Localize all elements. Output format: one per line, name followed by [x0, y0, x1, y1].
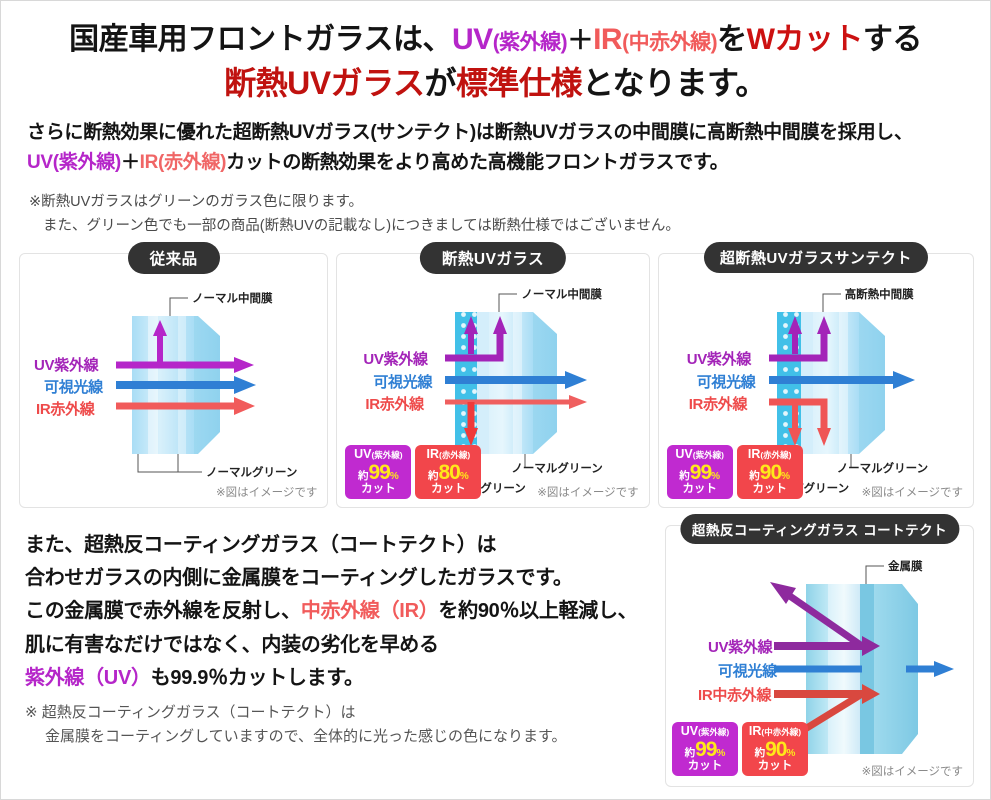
headline-line-1: 国産車用フロントガラスは、UV(紫外線)＋IR(中赤外線)をWカットする — [1, 21, 990, 59]
page-title: 国産車用フロントガラスは、UV(紫外線)＋IR(中赤外線)をWカットする 断熱U… — [1, 1, 990, 104]
ray-label-visible-heat-uv: 可視光線 — [373, 371, 432, 392]
infographic-page: 国産車用フロントガラスは、UV(紫外線)＋IR(中赤外線)をWカットする 断熱U… — [0, 0, 991, 800]
badge-ir-cut-coattect: カット — [742, 761, 808, 773]
badge-ir-approx-suntect: 約 — [749, 470, 760, 482]
coattect-uv-highlight: 紫外線（UV） — [25, 667, 151, 689]
badge-ir-abbr-heat-uv: IR — [427, 447, 440, 461]
badge-ir-abbr-coattect: IR — [749, 724, 762, 738]
image-note-heat-uv: ※図はイメージです — [537, 484, 638, 500]
ray-label-ir-coattect: IR中赤外線 — [698, 684, 771, 705]
badge-uv-value-suntect: 約99% — [667, 462, 733, 483]
badges-heat-uv: UV(紫外線) 約99% カット IR(赤外線) 約80% カット — [345, 445, 481, 499]
badge-ir-value-heat-uv: 約80% — [415, 462, 481, 483]
badge-uv-paren-coattect: (紫外線) — [698, 727, 729, 737]
lead-line-1: さらに断熱効果に優れた超断熱UVガラス(サンテクト)は断熱UVガラスの中間膜に高… — [27, 118, 964, 147]
image-note-coattect: ※図はイメージです — [862, 763, 963, 779]
coattect-line-5b: も99.9％カットします。 — [151, 667, 364, 689]
headline-seg-uv: UV — [452, 23, 493, 56]
panel-conventional: 従来品 — [19, 253, 328, 508]
badge-uv-abbr-suntect: UV — [675, 447, 692, 461]
badge-uv-cut-heat-uv: カット — [345, 484, 411, 496]
headline-seg-wcut: Wカット — [747, 23, 863, 56]
badges-suntect: UV(紫外線) 約99% カット IR(赤外線) 約90% カット — [667, 445, 803, 499]
badge-ir-title-heat-uv: IR(赤外線) — [415, 448, 481, 461]
ray-label-uv-coattect: UV紫外線 — [708, 636, 772, 657]
ray-label-ir-suntect: IR赤外線 — [689, 393, 748, 414]
badge-ir-value-suntect: 約90% — [737, 462, 803, 483]
badge-uv-value-heat-uv: 約99% — [345, 462, 411, 483]
callout-metal-film-coattect: 金属膜 — [888, 558, 923, 574]
coattect-footnote-line-2: 金属膜をコーティングしていますので、全体的に光った感じの色になります。 — [25, 725, 645, 749]
badge-uv-number-heat-uv: 99 — [368, 461, 389, 484]
badge-ir-percent-coattect: % — [786, 748, 795, 759]
ray-label-uv-conventional: UV紫外線 — [34, 354, 98, 375]
panel-heat-uv: 断熱UVガラス — [336, 253, 649, 508]
image-note-suntect: ※図はイメージです — [862, 484, 963, 500]
panel-body-coattect: UV紫外線 可視光線 IR中赤外線 金属膜 UV(紫外線) 約99% カット I… — [666, 526, 973, 786]
badge-uv-percent-coattect: % — [716, 748, 725, 759]
coattect-ir-highlight: 中赤外線（IR） — [301, 600, 439, 622]
green-glass-note: ※断熱UVガラスはグリーンのガラス色に限ります。 また、グリーン色でも一部の商品… — [29, 191, 962, 238]
badge-uv-suntect: UV(紫外線) 約99% カット — [667, 445, 733, 499]
note-line-1: ※断熱UVガラスはグリーンのガラス色に限ります。 — [29, 194, 363, 210]
coattect-line-5: 紫外線（UV）も99.9％カットします。 — [25, 662, 645, 695]
ray-label-uv-heat-uv: UV紫外線 — [363, 348, 427, 369]
badge-ir-cut-suntect: カット — [737, 484, 803, 496]
panel-title-heat-uv: 断熱UVガラス — [420, 242, 566, 274]
coattect-line-1: また、超熱反コーティングガラス（コートテクト）は — [25, 529, 645, 562]
badge-uv-title-coattect: UV(紫外線) — [672, 725, 738, 738]
badge-ir-suntect: IR(赤外線) 約90% カット — [737, 445, 803, 499]
headline-seg-tail: となります。 — [582, 65, 767, 101]
coattect-footnote-line-1: ※ 超熱反コーティングガラス（コートテクト）は — [25, 704, 356, 721]
ray-label-visible-conventional: 可視光線 — [44, 376, 103, 397]
badge-uv-percent-suntect: % — [711, 471, 720, 482]
headline-seg-suru: する — [863, 23, 922, 56]
panel-body-suntect: UV紫外線 可視光線 IR赤外線 高断熱中間膜 ノーマルグリーン 断熱UVグリー… — [659, 254, 973, 507]
coattect-line-3c: を約90％以上軽減し、 — [438, 600, 637, 622]
badge-ir-number-heat-uv: 80 — [438, 461, 459, 484]
lead-plus: ＋ — [121, 152, 140, 173]
badge-ir-number-suntect: 90 — [760, 461, 781, 484]
badge-ir-abbr-suntect: IR — [748, 447, 761, 461]
badge-uv-paren-suntect: (紫外線) — [693, 450, 724, 460]
badge-uv-number-coattect: 99 — [695, 738, 716, 761]
lead-ir-label: IR(赤外線) — [140, 152, 227, 173]
coattect-line-4: 肌に有害なだけではなく、内装の劣化を早める — [25, 629, 645, 662]
badge-ir-coattect: IR(中赤外線) 約90% カット — [742, 722, 808, 776]
badge-ir-title-coattect: IR(中赤外線) — [742, 725, 808, 738]
callout-normal-green-heat-uv: ノーマルグリーン — [511, 460, 602, 476]
badge-uv-paren-heat-uv: (紫外線) — [371, 450, 402, 460]
badge-uv-title-suntect: UV(紫外線) — [667, 448, 733, 461]
panel-body-conventional: UV紫外線 可視光線 IR赤外線 ノーマル中間膜 ノーマルグリーン ※図はイメー… — [20, 254, 327, 507]
badge-ir-approx-coattect: 約 — [755, 747, 766, 759]
badge-uv-abbr-heat-uv: UV — [354, 447, 371, 461]
headline-seg-ir-paren: (中赤外線) — [622, 31, 717, 54]
lead-paragraph: さらに断熱効果に優れた超断熱UVガラス(サンテクト)は断熱UVガラスの中間膜に高… — [27, 118, 964, 177]
badge-ir-paren-coattect: (中赤外線) — [761, 727, 801, 737]
badge-uv-number-suntect: 99 — [690, 461, 711, 484]
panel-body-heat-uv: UV紫外線 可視光線 IR赤外線 ノーマル中間膜 ノーマルグリーン 断熱UVグリ… — [337, 254, 648, 507]
callout-interlayer-suntect: 高断熱中間膜 — [845, 286, 914, 302]
headline-seg-product: 断熱UVガラス — [224, 65, 424, 101]
coattect-line-3a: この金属膜で赤外線を反射し、 — [25, 600, 301, 622]
lead-line-2: UV(紫外線)＋IR(赤外線)カットの断熱効果をより高めた高機能フロントガラスで… — [27, 148, 964, 177]
headline-seg-ga: が — [424, 65, 456, 101]
badge-uv-approx-heat-uv: 約 — [358, 470, 369, 482]
badge-uv-abbr-coattect: UV — [681, 724, 698, 738]
badge-ir-number-coattect: 90 — [765, 738, 786, 761]
headline-line-2: 断熱UVガラスが標準仕様となります。 — [1, 63, 990, 104]
badges-coattect: UV(紫外線) 約99% カット IR(中赤外線) 約90% カット — [672, 722, 808, 776]
badge-ir-percent-heat-uv: % — [460, 471, 469, 482]
note-line-2: また、グリーン色でも一部の商品(断熱UVの記載なし)につきましては断熱仕様ではご… — [29, 215, 962, 238]
badge-uv-heat-uv: UV(紫外線) 約99% カット — [345, 445, 411, 499]
panel-title-coattect: 超熱反コーティングガラス コートテクト — [680, 514, 959, 544]
panel-coattect: 超熱反コーティングガラス コートテクト — [665, 525, 974, 787]
comparison-panels: 従来品 — [19, 253, 974, 508]
coattect-line-3: この金属膜で赤外線を反射し、中赤外線（IR）を約90％以上軽減し、 — [25, 595, 645, 628]
panel-title-conventional: 従来品 — [128, 242, 220, 274]
callout-interlayer-heat-uv: ノーマル中間膜 — [521, 286, 602, 302]
lead-rest: カットの断熱効果をより高めた高機能フロントガラスです。 — [226, 152, 728, 173]
ray-label-ir-conventional: IR赤外線 — [36, 398, 95, 419]
badge-ir-cut-heat-uv: カット — [415, 484, 481, 496]
badge-ir-paren-suntect: (赤外線) — [760, 450, 791, 460]
badge-uv-title-heat-uv: UV(紫外線) — [345, 448, 411, 461]
coattect-line-2: 合わせガラスの内側に金属膜をコーティングしたガラスです。 — [25, 562, 645, 595]
headline-seg-wo: を — [717, 23, 747, 56]
badge-ir-heat-uv: IR(赤外線) 約80% カット — [415, 445, 481, 499]
headline-seg-ir: IR — [593, 23, 622, 56]
lead-uv-label: UV(紫外線) — [27, 152, 121, 173]
badge-uv-approx-coattect: 約 — [685, 747, 696, 759]
badge-uv-cut-coattect: カット — [672, 761, 738, 773]
badge-ir-paren-heat-uv: (赤外線) — [439, 450, 470, 460]
callout-interlayer-conventional: ノーマル中間膜 — [192, 290, 273, 306]
headline-seg-plus: ＋ — [567, 25, 593, 55]
ray-label-visible-suntect: 可視光線 — [697, 371, 756, 392]
headline-seg-standard: 標準仕様 — [456, 65, 582, 101]
badge-uv-cut-suntect: カット — [667, 484, 733, 496]
callout-green-conventional: ノーマルグリーン — [206, 464, 297, 480]
badge-uv-approx-suntect: 約 — [679, 470, 690, 482]
badge-ir-title-suntect: IR(赤外線) — [737, 448, 803, 461]
headline-seg-intro: 国産車用フロントガラスは、 — [69, 23, 452, 56]
badge-ir-approx-heat-uv: 約 — [428, 470, 439, 482]
ray-label-uv-suntect: UV紫外線 — [687, 348, 751, 369]
badge-ir-value-coattect: 約90% — [742, 739, 808, 760]
badge-uv-coattect: UV(紫外線) 約99% カット — [672, 722, 738, 776]
image-note-conventional: ※図はイメージです — [216, 484, 317, 500]
panel-title-suntect: 超断熱UVガラスサンテクト — [704, 242, 928, 273]
badge-uv-percent-heat-uv: % — [390, 471, 399, 482]
badge-uv-value-coattect: 約99% — [672, 739, 738, 760]
badge-ir-percent-suntect: % — [781, 471, 790, 482]
ray-label-visible-coattect: 可視光線 — [718, 660, 777, 681]
ray-label-ir-heat-uv: IR赤外線 — [365, 393, 424, 414]
headline-seg-uv-paren: (紫外線) — [493, 31, 568, 54]
callout-normal-green-suntect: ノーマルグリーン — [837, 460, 928, 476]
panel-suntect: 超断熱UVガラスサンテクト — [658, 253, 974, 508]
coattect-footnote: ※ 超熱反コーティングガラス（コートテクト）は 金属膜をコーティングしていますの… — [25, 701, 645, 750]
coattect-description: また、超熱反コーティングガラス（コートテクト）は 合わせガラスの内側に金属膜をコ… — [25, 529, 645, 695]
